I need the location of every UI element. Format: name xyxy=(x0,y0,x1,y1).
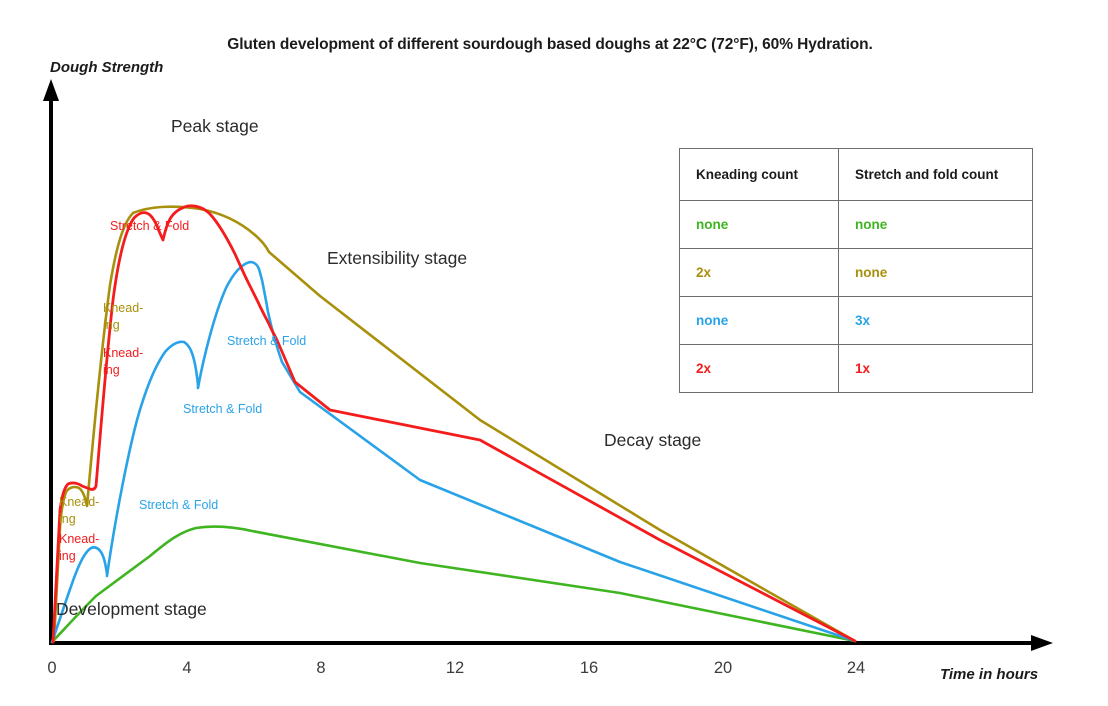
legend-cell-stretch-fold-1: none xyxy=(839,249,1033,297)
x-tick-8: 8 xyxy=(301,659,341,678)
table-row: none 3x xyxy=(680,297,1033,345)
x-tick-20: 20 xyxy=(703,659,743,678)
table-row: none none xyxy=(680,201,1033,249)
annotation-stretch-fold-blue-mid: Stretch & Fold xyxy=(183,401,262,418)
legend-cell-kneading-0: none xyxy=(680,201,839,249)
legend-header-row: Kneading count Stretch and fold count xyxy=(680,149,1033,201)
series-line-green xyxy=(52,527,855,642)
legend-cell-stretch-fold-0: none xyxy=(839,201,1033,249)
annotation-stretch-fold-red-upper: Stretch & Fold xyxy=(110,218,189,235)
x-tick-4: 4 xyxy=(167,659,207,678)
stage-label-peak: Peak stage xyxy=(171,118,259,135)
x-tick-12: 12 xyxy=(435,659,475,678)
x-tick-16: 16 xyxy=(569,659,609,678)
legend-cell-kneading-3: 2x xyxy=(680,345,839,393)
legend-cell-kneading-2: none xyxy=(680,297,839,345)
legend-header-stretch-fold: Stretch and fold count xyxy=(839,149,1033,201)
x-tick-24: 24 xyxy=(836,659,876,678)
annotation-kneading-olive-lower: Knead- ing xyxy=(59,494,99,528)
table-row: 2x none xyxy=(680,249,1033,297)
y-axis-title: Dough Strength xyxy=(50,59,163,76)
stage-label-decay: Decay stage xyxy=(604,432,701,449)
annotation-kneading-olive-upper: Knead- ing xyxy=(103,300,143,334)
annotation-kneading-red-upper: Knead- ing xyxy=(103,345,143,379)
x-tick-0: 0 xyxy=(32,659,72,678)
annotation-stretch-fold-blue-upper: Stretch & Fold xyxy=(227,333,306,350)
x-axis-title: Time in hours xyxy=(940,666,1038,683)
legend-table: Kneading count Stretch and fold count no… xyxy=(679,148,1033,393)
table-row: 2x 1x xyxy=(680,345,1033,393)
chart-root: Gluten development of different sourdoug… xyxy=(0,0,1108,706)
legend-header-kneading: Kneading count xyxy=(680,149,839,201)
annotation-kneading-red-lower: Knead- ing xyxy=(59,531,99,565)
stage-label-development: Development stage xyxy=(56,601,207,618)
legend-cell-kneading-1: 2x xyxy=(680,249,839,297)
legend-cell-stretch-fold-3: 1x xyxy=(839,345,1033,393)
annotation-stretch-fold-blue-lower: Stretch & Fold xyxy=(139,497,218,514)
stage-label-extensibility: Extensibility stage xyxy=(327,250,467,267)
legend-cell-stretch-fold-2: 3x xyxy=(839,297,1033,345)
